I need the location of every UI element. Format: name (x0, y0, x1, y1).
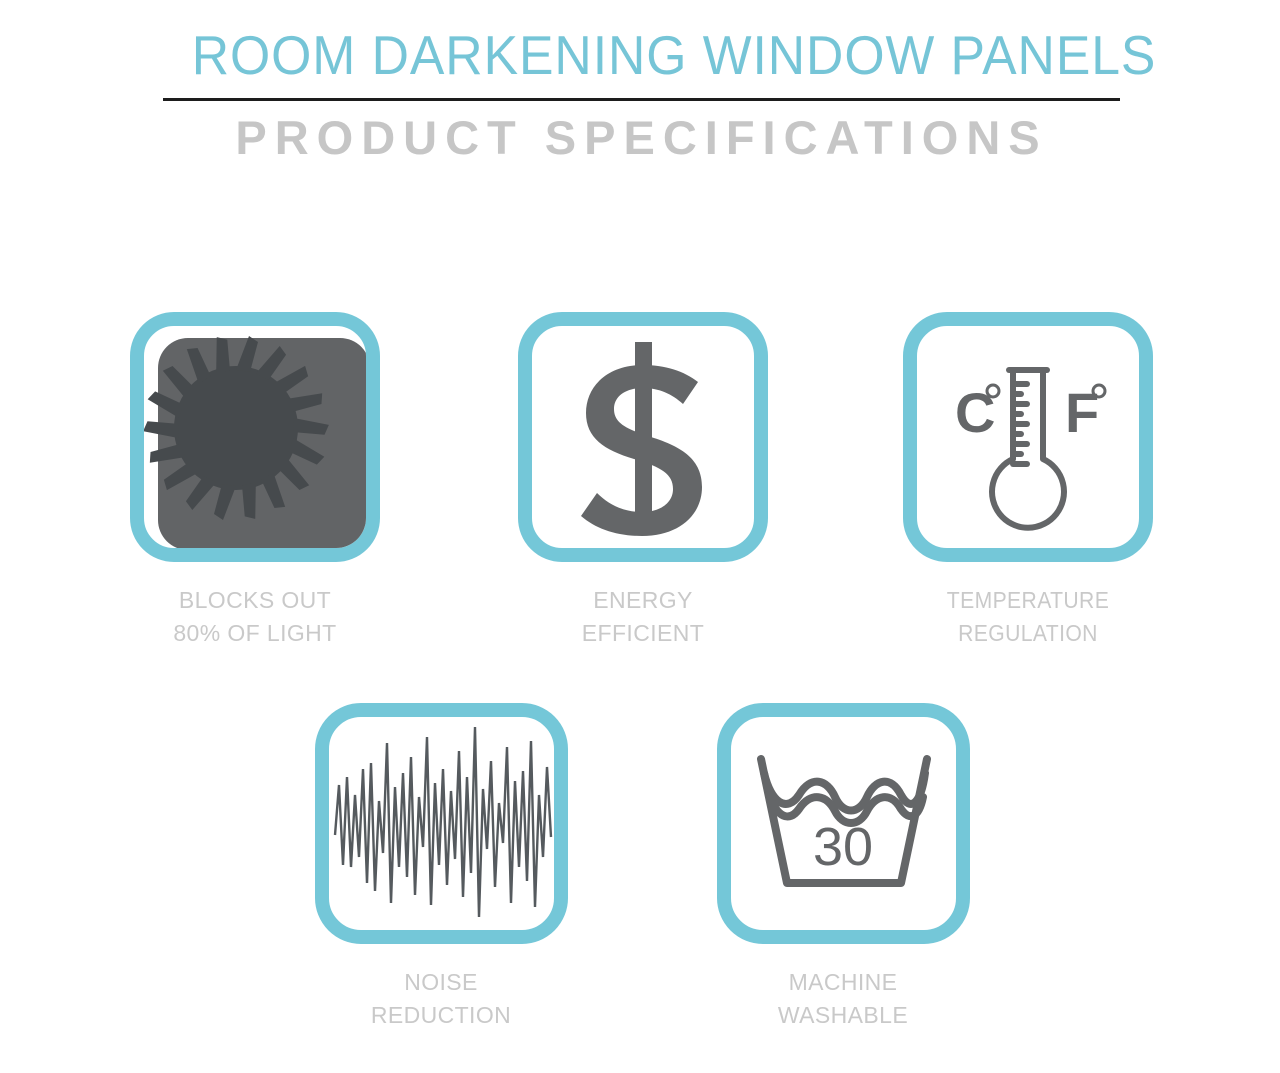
icon-tile-blocks-light (130, 312, 380, 562)
page-subtitle: PRODUCT SPECIFICATIONS (163, 108, 1120, 168)
wash-temperature-label: 30 (812, 817, 872, 877)
feature-machine-washable[interactable]: 30 MACHINE WASHABLE (713, 703, 973, 1032)
sound-waveform-icon (329, 717, 554, 930)
feature-noise-reduction[interactable]: NOISE REDUCTION (311, 703, 571, 1032)
feature-energy-efficient[interactable]: ENERGY EFFICIENT (513, 312, 773, 650)
icon-tile-noise (315, 703, 568, 944)
dollar-sign-icon (532, 326, 754, 548)
feature-caption: ENERGY EFFICIENT (513, 584, 773, 650)
icon-tile-energy (518, 312, 768, 562)
feature-caption: NOISE REDUCTION (311, 966, 571, 1032)
title-divider (163, 98, 1120, 101)
thermometer-icon: C F (917, 326, 1139, 548)
celsius-label: C (955, 381, 995, 444)
icon-tile-washable: 30 (717, 703, 970, 944)
wash-tub-icon: 30 (731, 717, 956, 930)
feature-caption: MACHINE WASHABLE (713, 966, 973, 1032)
feature-blocks-light[interactable]: BLOCKS OUT 80% OF LIGHT (125, 312, 385, 650)
sun-blocked-icon (144, 326, 366, 548)
feature-caption: BLOCKS OUT 80% OF LIGHT (125, 584, 385, 650)
feature-caption: TEMPERATURE REGULATION (908, 584, 1147, 650)
page-title: ROOM DARKENING WINDOW PANELS (192, 24, 1092, 86)
feature-temperature[interactable]: C F TEMPERATURE REGULATION (898, 312, 1158, 650)
page-header: ROOM DARKENING WINDOW PANELS PRODUCT SPE… (0, 0, 1280, 180)
icon-tile-temperature: C F (903, 312, 1153, 562)
